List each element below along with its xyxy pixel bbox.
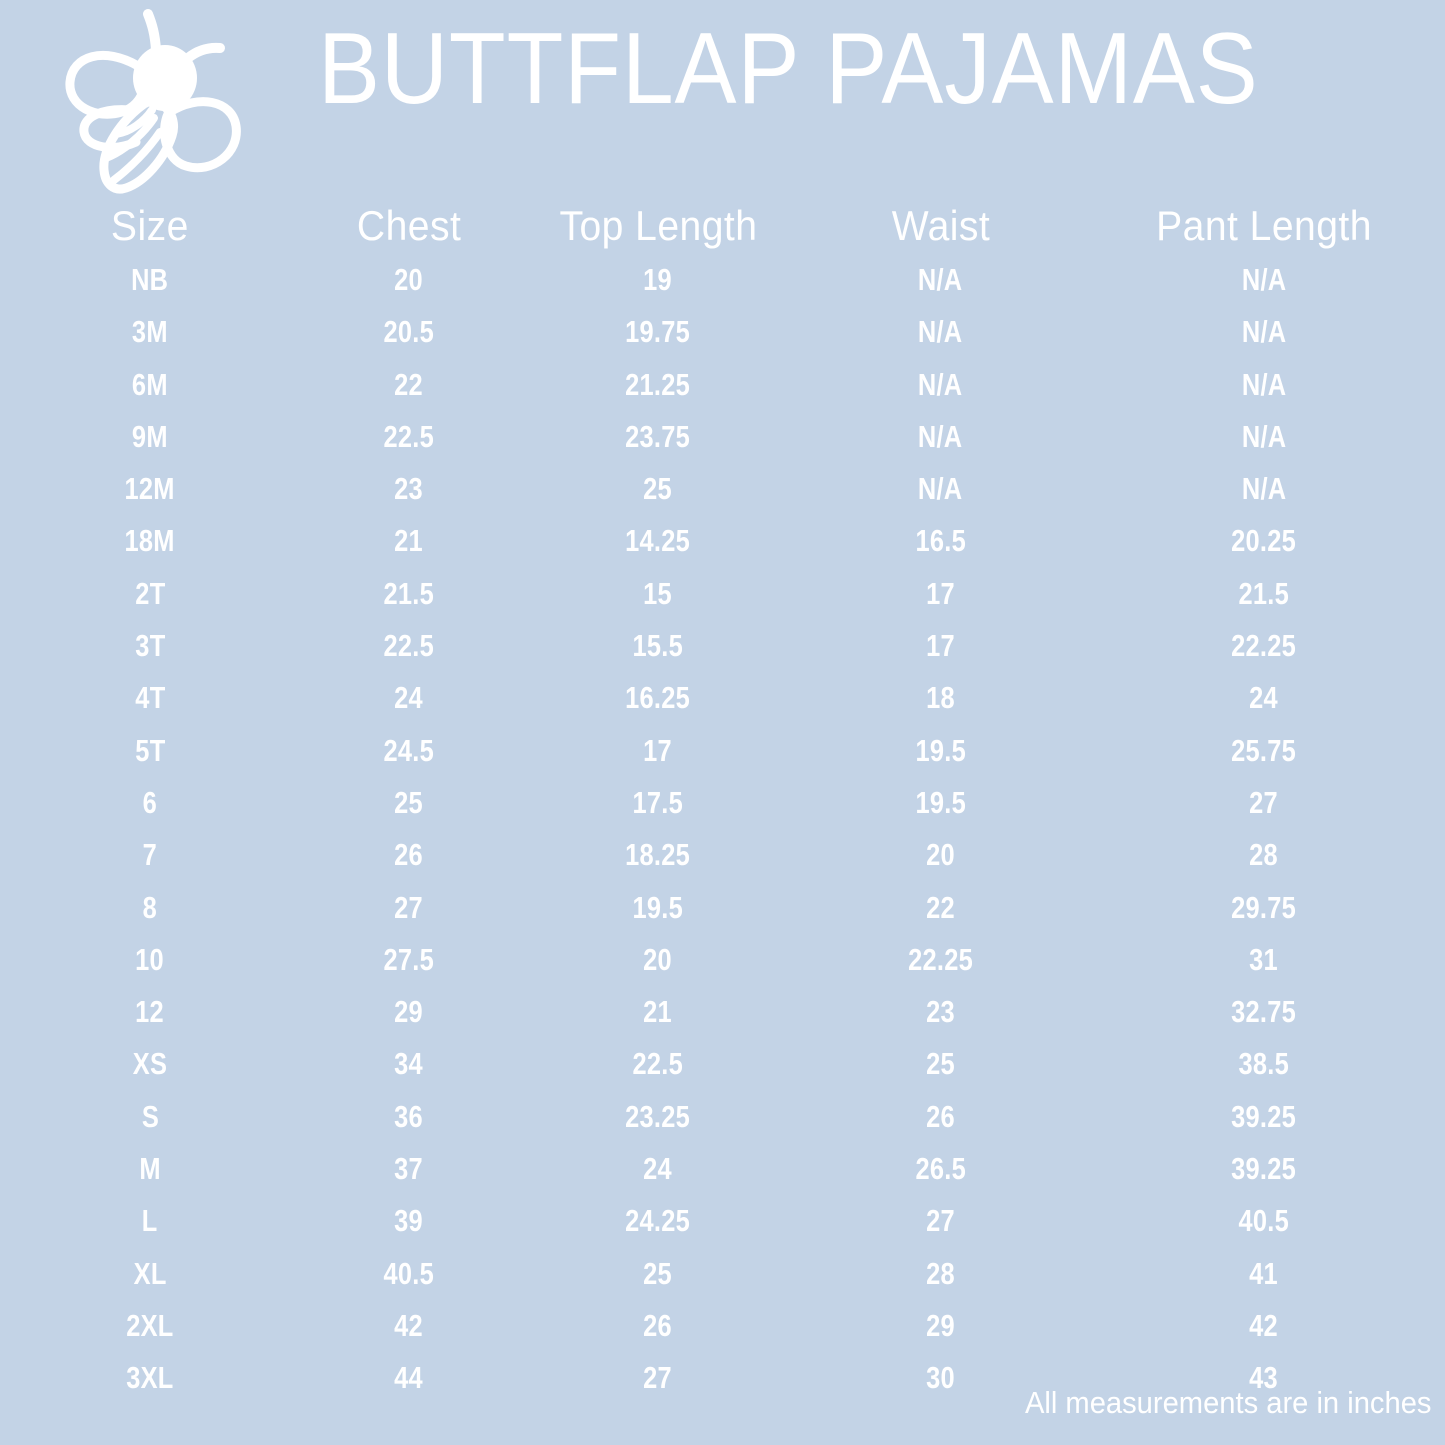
cell-value: 26.5 [915, 1143, 965, 1195]
column-header-waist-label: Waist [891, 198, 990, 254]
cell-value: 41 [1250, 1248, 1279, 1300]
cell-value: 3M [132, 306, 168, 358]
cell-top-length: 19.75 [518, 306, 798, 358]
cell-chest: 22.5 [300, 620, 518, 672]
cell-value: 32.75 [1232, 986, 1297, 1038]
cell-value: 19.5 [915, 777, 965, 829]
cell-size: 18M [0, 515, 300, 567]
table-row: XL40.5252841 [0, 1248, 1445, 1300]
cell-value: 21.5 [384, 568, 434, 620]
cell-value: 27.5 [384, 934, 434, 986]
cell-pant-length: N/A [1083, 411, 1445, 463]
column-header-top-length: Top Length [518, 198, 798, 254]
cell-size: 9M [0, 411, 300, 463]
cell-value: 23 [926, 986, 955, 1038]
cell-size: L [0, 1195, 300, 1247]
cell-top-length: 14.25 [518, 515, 798, 567]
cell-value: 21 [395, 515, 424, 567]
cell-chest: 21 [300, 515, 518, 567]
cell-value: 39.25 [1232, 1143, 1297, 1195]
cell-top-length: 17.5 [518, 777, 798, 829]
cell-value: 6M [132, 359, 168, 411]
cell-waist: 22.25 [798, 934, 1083, 986]
size-chart-table: Size Chest Top Length Waist Pant Length … [0, 198, 1445, 1405]
cell-top-length: 24.25 [518, 1195, 798, 1247]
cell-value: 15.5 [633, 620, 683, 672]
cell-top-length: 17 [518, 725, 798, 777]
cell-value: N/A [918, 359, 963, 411]
cell-pant-length: 21.5 [1083, 568, 1445, 620]
cell-value: 37 [395, 1143, 424, 1195]
cell-size: 8 [0, 882, 300, 934]
cell-size: XS [0, 1038, 300, 1090]
cell-value: 25 [644, 1248, 673, 1300]
cell-value: 19.75 [626, 306, 691, 358]
cell-waist: 26 [798, 1091, 1083, 1143]
cell-waist: 18 [798, 672, 1083, 724]
cell-value: L [142, 1195, 158, 1247]
table-row: 3M20.519.75N/AN/A [0, 306, 1445, 358]
cell-value: 30 [926, 1352, 955, 1404]
cell-size: 6M [0, 359, 300, 411]
cell-value: 3T [135, 620, 165, 672]
cell-value: 28 [926, 1248, 955, 1300]
column-header-chest-label: Chest [357, 198, 461, 254]
cell-pant-length: 25.75 [1083, 725, 1445, 777]
cell-value: 40.5 [1239, 1195, 1289, 1247]
cell-pant-length: 39.25 [1083, 1143, 1445, 1195]
cell-value: 42 [1250, 1300, 1279, 1352]
cell-top-length: 16.25 [518, 672, 798, 724]
cell-size: 2T [0, 568, 300, 620]
cell-value: 27 [395, 882, 424, 934]
cell-value: 25 [644, 463, 673, 515]
cell-size: NB [0, 254, 300, 306]
cell-value: 40.5 [384, 1248, 434, 1300]
cell-chest: 24 [300, 672, 518, 724]
cell-value: 24 [644, 1143, 673, 1195]
cell-value: 23 [395, 463, 424, 515]
cell-waist: 25 [798, 1038, 1083, 1090]
cell-value: 2XL [126, 1300, 173, 1352]
cell-value: N/A [918, 254, 963, 306]
cell-value: 21 [644, 986, 673, 1038]
cell-value: 29.75 [1232, 882, 1297, 934]
table-row: 1027.52022.2531 [0, 934, 1445, 986]
cell-value: 18 [926, 672, 955, 724]
cell-value: 22 [395, 359, 424, 411]
cell-value: N/A [1242, 254, 1287, 306]
table-row: 12M2325N/AN/A [0, 463, 1445, 515]
cell-value: N/A [918, 411, 963, 463]
cell-value: 26 [644, 1300, 673, 1352]
size-chart-page: BUTTFLAP PAJAMAS Size Chest Top Length W… [0, 0, 1445, 1445]
cell-top-length: 25 [518, 463, 798, 515]
cell-top-length: 25 [518, 1248, 798, 1300]
cell-value: N/A [1242, 306, 1287, 358]
cell-pant-length: N/A [1083, 359, 1445, 411]
cell-chest: 25 [300, 777, 518, 829]
cell-waist: 22 [798, 882, 1083, 934]
cell-top-length: 24 [518, 1143, 798, 1195]
cell-pant-length: 32.75 [1083, 986, 1445, 1038]
cell-size: M [0, 1143, 300, 1195]
cell-value: 28 [1250, 829, 1279, 881]
cell-value: 3XL [126, 1352, 173, 1404]
cell-pant-length: 38.5 [1083, 1038, 1445, 1090]
table-row: 2T21.5151721.5 [0, 568, 1445, 620]
cell-waist: 19.5 [798, 777, 1083, 829]
cell-waist: N/A [798, 411, 1083, 463]
cell-value: N/A [918, 306, 963, 358]
cell-waist: 26.5 [798, 1143, 1083, 1195]
cell-value: N/A [918, 463, 963, 515]
cell-pant-length: 22.25 [1083, 620, 1445, 672]
cell-value: XL [134, 1248, 167, 1300]
table-header-row: Size Chest Top Length Waist Pant Length [0, 198, 1445, 254]
cell-pant-length: N/A [1083, 254, 1445, 306]
cell-value: 27 [644, 1352, 673, 1404]
cell-value: 20.25 [1232, 515, 1297, 567]
cell-size: S [0, 1091, 300, 1143]
column-header-top-length-label: Top Length [559, 198, 757, 254]
cell-value: 8 [143, 882, 157, 934]
cell-value: 19.5 [915, 725, 965, 777]
cell-value: 16.5 [915, 515, 965, 567]
cell-value: 27 [926, 1195, 955, 1247]
cell-value: 22 [926, 882, 955, 934]
cell-top-length: 19.5 [518, 882, 798, 934]
cell-pant-length: N/A [1083, 306, 1445, 358]
table-row: 9M22.523.75N/AN/A [0, 411, 1445, 463]
cell-top-length: 19 [518, 254, 798, 306]
cell-value: 25.75 [1232, 725, 1297, 777]
cell-top-length: 26 [518, 1300, 798, 1352]
cell-value: S [141, 1091, 158, 1143]
cell-chest: 20.5 [300, 306, 518, 358]
cell-size: 3T [0, 620, 300, 672]
cell-value: 26 [926, 1091, 955, 1143]
cell-waist: N/A [798, 463, 1083, 515]
cell-size: 3XL [0, 1352, 300, 1404]
cell-value: 16.25 [626, 672, 691, 724]
cell-size: XL [0, 1248, 300, 1300]
cell-chest: 37 [300, 1143, 518, 1195]
cell-value: 22.25 [908, 934, 973, 986]
cell-top-length: 15.5 [518, 620, 798, 672]
cell-chest: 39 [300, 1195, 518, 1247]
cell-value: 26 [395, 829, 424, 881]
cell-value: N/A [1242, 359, 1287, 411]
cell-chest: 27.5 [300, 934, 518, 986]
table-body: NB2019N/AN/A3M20.519.75N/AN/A6M2221.25N/… [0, 254, 1445, 1405]
cell-value: 21.5 [1239, 568, 1289, 620]
cell-top-length: 21 [518, 986, 798, 1038]
cell-value: 19.5 [633, 882, 683, 934]
cell-value: 5T [135, 725, 165, 777]
cell-pant-length: 39.25 [1083, 1091, 1445, 1143]
cell-value: 29 [395, 986, 424, 1038]
cell-value: 24.5 [384, 725, 434, 777]
cell-waist: 16.5 [798, 515, 1083, 567]
cell-value: 29 [926, 1300, 955, 1352]
cell-chest: 40.5 [300, 1248, 518, 1300]
cell-pant-length: 31 [1083, 934, 1445, 986]
cell-waist: 17 [798, 620, 1083, 672]
cell-chest: 29 [300, 986, 518, 1038]
cell-value: 20 [395, 254, 424, 306]
cell-size: 2XL [0, 1300, 300, 1352]
cell-waist: 17 [798, 568, 1083, 620]
cell-value: 24.25 [626, 1195, 691, 1247]
cell-size: 10 [0, 934, 300, 986]
cell-waist: N/A [798, 254, 1083, 306]
cell-waist: 28 [798, 1248, 1083, 1300]
cell-value: 42 [395, 1300, 424, 1352]
table-row: 4T2416.251824 [0, 672, 1445, 724]
cell-chest: 23 [300, 463, 518, 515]
cell-top-length: 22.5 [518, 1038, 798, 1090]
cell-value: 20 [644, 934, 673, 986]
table-row: 62517.519.527 [0, 777, 1445, 829]
cell-size: 12 [0, 986, 300, 1038]
column-header-waist: Waist [798, 198, 1083, 254]
cell-chest: 22 [300, 359, 518, 411]
table-row: 3T22.515.51722.25 [0, 620, 1445, 672]
cell-waist: N/A [798, 359, 1083, 411]
cell-chest: 34 [300, 1038, 518, 1090]
cell-top-length: 15 [518, 568, 798, 620]
cell-value: 15 [644, 568, 673, 620]
page-title: BUTTFLAP PAJAMAS [318, 14, 1348, 124]
cell-value: 39 [395, 1195, 424, 1247]
cell-value: 17.5 [633, 777, 683, 829]
cell-top-length: 23.25 [518, 1091, 798, 1143]
cell-value: 12 [136, 986, 165, 1038]
cell-pant-length: 28 [1083, 829, 1445, 881]
column-header-size-label: Size [111, 198, 189, 254]
cell-waist: 19.5 [798, 725, 1083, 777]
cell-value: 20 [926, 829, 955, 881]
cell-chest: 26 [300, 829, 518, 881]
table-row: 1229212332.75 [0, 986, 1445, 1038]
cell-size: 12M [0, 463, 300, 515]
table-row: NB2019N/AN/A [0, 254, 1445, 306]
cell-value: 24 [1250, 672, 1279, 724]
table-row: M372426.539.25 [0, 1143, 1445, 1195]
table-row: 2XL42262942 [0, 1300, 1445, 1352]
cell-top-length: 20 [518, 934, 798, 986]
cell-pant-length: 20.25 [1083, 515, 1445, 567]
column-header-pant-length-label: Pant Length [1156, 198, 1372, 254]
cell-value: 31 [1250, 934, 1279, 986]
cell-size: 4T [0, 672, 300, 724]
cell-value: 17 [926, 620, 955, 672]
cell-top-length: 27 [518, 1352, 798, 1404]
table-row: 72618.252028 [0, 829, 1445, 881]
cell-value: M [139, 1143, 160, 1195]
cell-value: 36 [395, 1091, 424, 1143]
cell-waist: N/A [798, 306, 1083, 358]
table-row: 6M2221.25N/AN/A [0, 359, 1445, 411]
cell-value: 24 [395, 672, 424, 724]
cell-value: 44 [395, 1352, 424, 1404]
cell-value: 6 [143, 777, 157, 829]
cell-value: 19 [644, 254, 673, 306]
cell-value: 27 [1250, 777, 1279, 829]
cell-value: 21.25 [626, 359, 691, 411]
cell-waist: 20 [798, 829, 1083, 881]
cell-value: NB [131, 254, 168, 306]
cell-value: 22.5 [384, 620, 434, 672]
cell-value: 22.5 [384, 411, 434, 463]
table-row: 5T24.51719.525.75 [0, 725, 1445, 777]
cell-size: 7 [0, 829, 300, 881]
cell-chest: 36 [300, 1091, 518, 1143]
cell-pant-length: 42 [1083, 1300, 1445, 1352]
cell-chest: 24.5 [300, 725, 518, 777]
cell-value: 14.25 [626, 515, 691, 567]
cell-size: 6 [0, 777, 300, 829]
column-header-chest: Chest [300, 198, 518, 254]
cell-value: 22.25 [1232, 620, 1297, 672]
cell-chest: 42 [300, 1300, 518, 1352]
cell-value: 22.5 [633, 1038, 683, 1090]
cell-value: 17 [926, 568, 955, 620]
cell-value: 17 [644, 725, 673, 777]
cell-value: 4T [135, 672, 165, 724]
cell-pant-length: 40.5 [1083, 1195, 1445, 1247]
cell-value: 34 [395, 1038, 424, 1090]
cell-pant-length: 41 [1083, 1248, 1445, 1300]
cell-waist: 23 [798, 986, 1083, 1038]
measurement-units-note: All measurements are in inches [1024, 1385, 1431, 1421]
cell-pant-length: 24 [1083, 672, 1445, 724]
cell-value: 10 [136, 934, 165, 986]
table-row: S3623.252639.25 [0, 1091, 1445, 1143]
cell-value: XS [133, 1038, 167, 1090]
table-row: 18M2114.2516.520.25 [0, 515, 1445, 567]
cell-size: 5T [0, 725, 300, 777]
cell-top-length: 23.75 [518, 411, 798, 463]
bee-icon [52, 8, 252, 198]
cell-chest: 21.5 [300, 568, 518, 620]
cell-pant-length: N/A [1083, 463, 1445, 515]
cell-value: 18.25 [626, 829, 691, 881]
cell-value: 38.5 [1239, 1038, 1289, 1090]
cell-value: 7 [143, 829, 157, 881]
cell-value: 20.5 [384, 306, 434, 358]
cell-pant-length: 27 [1083, 777, 1445, 829]
cell-value: 23.25 [626, 1091, 691, 1143]
cell-chest: 27 [300, 882, 518, 934]
cell-value: 25 [926, 1038, 955, 1090]
cell-top-length: 18.25 [518, 829, 798, 881]
chart-header: BUTTFLAP PAJAMAS [0, 0, 1445, 200]
cell-value: N/A [1242, 463, 1287, 515]
cell-value: 18M [125, 515, 175, 567]
cell-size: 3M [0, 306, 300, 358]
cell-value: N/A [1242, 411, 1287, 463]
cell-pant-length: 29.75 [1083, 882, 1445, 934]
cell-value: 25 [395, 777, 424, 829]
column-header-size: Size [0, 198, 300, 254]
cell-chest: 44 [300, 1352, 518, 1404]
cell-value: 2T [135, 568, 165, 620]
cell-value: 12M [125, 463, 175, 515]
table-row: XS3422.52538.5 [0, 1038, 1445, 1090]
cell-value: 23.75 [626, 411, 691, 463]
column-header-pant-length: Pant Length [1083, 198, 1445, 254]
cell-waist: 27 [798, 1195, 1083, 1247]
cell-chest: 22.5 [300, 411, 518, 463]
table-row: 82719.52229.75 [0, 882, 1445, 934]
cell-top-length: 21.25 [518, 359, 798, 411]
cell-chest: 20 [300, 254, 518, 306]
cell-waist: 29 [798, 1300, 1083, 1352]
cell-value: 9M [132, 411, 168, 463]
cell-value: 39.25 [1232, 1091, 1297, 1143]
table-row: L3924.252740.5 [0, 1195, 1445, 1247]
